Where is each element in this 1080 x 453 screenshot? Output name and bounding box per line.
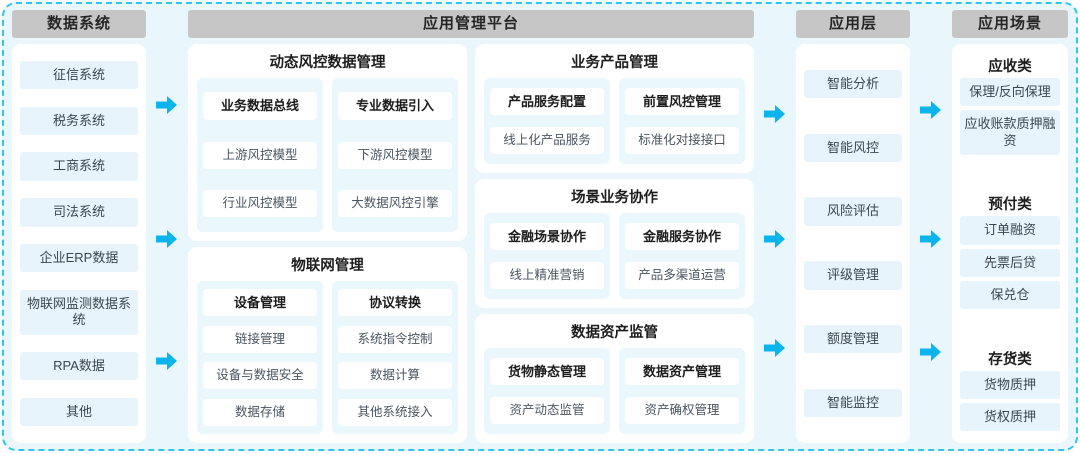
- right-arrow-icon: [763, 337, 787, 359]
- list-item[interactable]: 数据资产管理: [625, 358, 739, 386]
- list-item[interactable]: 货物质押: [960, 371, 1060, 399]
- category-title: 预付类: [960, 190, 1060, 216]
- group-subcolumns: 设备管理 链接管理 设备与数据安全 数据存储 协议转换 系统指令控制 数据计算 …: [197, 281, 458, 435]
- group-title: 动态风控数据管理: [197, 51, 458, 72]
- list-item[interactable]: 评级管理: [804, 261, 902, 289]
- list-item[interactable]: 其他: [20, 398, 138, 426]
- list-item[interactable]: 货物静态管理: [490, 358, 604, 386]
- right-arrow-icon: [919, 341, 943, 363]
- list-item[interactable]: 系统指令控制: [338, 326, 452, 353]
- subcolumn-right: 专业数据引入 下游风控模型 大数据风控引擎: [332, 78, 458, 232]
- group-title: 数据资产监管: [484, 321, 745, 342]
- list-item[interactable]: 其他系统接入: [338, 399, 452, 426]
- list-item[interactable]: 工商系统: [20, 152, 138, 180]
- data-system-card: 征信系统 税务系统 工商系统 司法系统 企业ERP数据 物联网监测数据系统 RP…: [12, 44, 146, 443]
- group-title: 场景业务协作: [484, 186, 745, 207]
- group-subcolumns: 产品服务配置 线上化产品服务 前置风控管理 标准化对接接口: [484, 78, 745, 164]
- right-arrow-icon: [763, 103, 787, 125]
- column-platform: 应用管理平台 动态风控数据管理 业务数据总线 上游风控模型 行业风控模型: [184, 10, 758, 443]
- right-arrow-icon: [763, 228, 787, 250]
- scenario-category: 预付类 订单融资 先票后贷 保兑仓: [960, 190, 1060, 313]
- application-layer-card: 智能分析 智能风控 风险评估 评级管理 额度管理 智能监控: [796, 44, 910, 443]
- list-item[interactable]: 企业ERP数据: [20, 244, 138, 272]
- subcolumn-left: 金融场景协作 线上精准营销: [484, 213, 610, 299]
- list-item[interactable]: 征信系统: [20, 61, 138, 89]
- list-item[interactable]: 应收账款质押融资: [960, 110, 1060, 155]
- column-data-system: 数据系统 征信系统 税务系统 工商系统 司法系统 企业ERP数据 物联网监测数据…: [8, 10, 150, 443]
- architecture-diagram: 数据系统 征信系统 税务系统 工商系统 司法系统 企业ERP数据 物联网监测数据…: [0, 0, 1080, 453]
- platform-header: 应用管理平台: [188, 10, 754, 38]
- scenario-category: 应收类 保理/反向保理 应收账款质押融资: [960, 52, 1060, 159]
- subcolumn-right: 数据资产管理 资产确权管理: [619, 348, 745, 434]
- list-item[interactable]: 标准化对接接口: [625, 127, 739, 154]
- right-arrow-icon: [919, 228, 943, 250]
- application-layer-list: 智能分析 智能风控 风险评估 评级管理 额度管理 智能监控: [804, 52, 902, 435]
- list-item[interactable]: 金融服务协作: [625, 223, 739, 251]
- scenario-category: 存货类 货物质押 货权质押: [960, 345, 1060, 436]
- application-layer-header: 应用层: [796, 10, 910, 38]
- column-application-layer: 应用层 智能分析 智能风控 风险评估 评级管理 额度管理 智能监控: [792, 10, 914, 443]
- group-subcolumns: 金融场景协作 线上精准营销 金融服务协作 产品多渠道运营: [484, 213, 745, 299]
- list-item[interactable]: 司法系统: [20, 198, 138, 226]
- group-card: 数据资产监管 货物静态管理 资产动态监管 数据资产管理 资产确权管理: [475, 314, 754, 443]
- list-item[interactable]: 产品服务配置: [490, 88, 604, 116]
- right-arrow-icon: [155, 350, 179, 372]
- platform-body: 动态风控数据管理 业务数据总线 上游风控模型 行业风控模型 专业数据引入 下游风…: [184, 38, 758, 443]
- group-title: 业务产品管理: [484, 51, 745, 72]
- connector-group-layer-to-scenarios: [914, 10, 948, 443]
- data-system-list: 征信系统 税务系统 工商系统 司法系统 企业ERP数据 物联网监测数据系统 RP…: [20, 52, 138, 435]
- list-item[interactable]: 业务数据总线: [203, 92, 317, 120]
- list-item[interactable]: 物联网监测数据系统: [20, 290, 138, 335]
- right-arrow-icon: [155, 228, 179, 250]
- connector-group-data-to-platform: [150, 10, 184, 443]
- group-card: 动态风控数据管理 业务数据总线 上游风控模型 行业风控模型 专业数据引入 下游风…: [188, 44, 467, 241]
- list-item[interactable]: 资产确权管理: [625, 397, 739, 424]
- list-item[interactable]: 行业风控模型: [203, 190, 317, 217]
- list-item[interactable]: 订单融资: [960, 216, 1060, 244]
- right-arrow-icon: [919, 99, 943, 121]
- list-item[interactable]: 设备管理: [203, 289, 317, 317]
- list-item[interactable]: 数据计算: [338, 362, 452, 389]
- list-item[interactable]: 上游风控模型: [203, 142, 317, 169]
- list-item[interactable]: 资产动态监管: [490, 397, 604, 424]
- connector-group-platform-to-layer: [758, 10, 792, 443]
- subcolumn-left: 产品服务配置 线上化产品服务: [484, 78, 610, 164]
- category-title: 应收类: [960, 52, 1060, 78]
- list-item[interactable]: 数据存储: [203, 399, 317, 426]
- subcolumn-left: 货物静态管理 资产动态监管: [484, 348, 610, 434]
- group-subcolumns: 货物静态管理 资产动态监管 数据资产管理 资产确权管理: [484, 348, 745, 434]
- subcolumn-left: 设备管理 链接管理 设备与数据安全 数据存储: [197, 281, 323, 435]
- list-item[interactable]: 智能分析: [804, 70, 902, 98]
- list-item[interactable]: 智能监控: [804, 389, 902, 417]
- list-item[interactable]: RPA数据: [20, 352, 138, 380]
- list-item[interactable]: 金融场景协作: [490, 223, 604, 251]
- list-item[interactable]: 先票后贷: [960, 249, 1060, 277]
- data-system-header: 数据系统: [12, 10, 146, 38]
- group-subcolumns: 业务数据总线 上游风控模型 行业风控模型 专业数据引入 下游风控模型 大数据风控…: [197, 78, 458, 232]
- list-item[interactable]: 税务系统: [20, 107, 138, 135]
- group-card: 物联网管理 设备管理 链接管理 设备与数据安全 数据存储 协议转换 系统指令控制: [188, 247, 467, 444]
- platform-left-stack: 动态风控数据管理 业务数据总线 上游风控模型 行业风控模型 专业数据引入 下游风…: [188, 44, 467, 443]
- scenario-groups: 应收类 保理/反向保理 应收账款质押融资 预付类 订单融资 先票后贷 保兑仓 存…: [960, 52, 1060, 435]
- list-item[interactable]: 前置风控管理: [625, 88, 739, 116]
- application-scenarios-header: 应用场景: [952, 10, 1068, 38]
- list-item[interactable]: 线上化产品服务: [490, 127, 604, 154]
- list-item[interactable]: 保理/反向保理: [960, 78, 1060, 106]
- list-item[interactable]: 线上精准营销: [490, 262, 604, 289]
- list-item[interactable]: 额度管理: [804, 325, 902, 353]
- list-item[interactable]: 智能风控: [804, 134, 902, 162]
- application-scenarios-card: 应收类 保理/反向保理 应收账款质押融资 预付类 订单融资 先票后贷 保兑仓 存…: [952, 44, 1068, 443]
- group-card: 场景业务协作 金融场景协作 线上精准营销 金融服务协作 产品多渠道运营: [475, 179, 754, 308]
- list-item[interactable]: 链接管理: [203, 326, 317, 353]
- list-item[interactable]: 产品多渠道运营: [625, 262, 739, 289]
- column-application-scenarios: 应用场景 应收类 保理/反向保理 应收账款质押融资 预付类 订单融资 先票后贷 …: [948, 10, 1072, 443]
- list-item[interactable]: 设备与数据安全: [203, 362, 317, 389]
- category-title: 存货类: [960, 345, 1060, 371]
- group-card: 业务产品管理 产品服务配置 线上化产品服务 前置风控管理 标准化对接接口: [475, 44, 754, 173]
- list-item[interactable]: 下游风控模型: [338, 142, 452, 169]
- list-item[interactable]: 专业数据引入: [338, 92, 452, 120]
- platform-right-stack: 业务产品管理 产品服务配置 线上化产品服务 前置风控管理 标准化对接接口: [475, 44, 754, 443]
- right-arrow-icon: [155, 94, 179, 116]
- subcolumn-left: 业务数据总线 上游风控模型 行业风控模型: [197, 78, 323, 232]
- subcolumn-right: 前置风控管理 标准化对接接口: [619, 78, 745, 164]
- group-title: 物联网管理: [197, 254, 458, 275]
- list-item[interactable]: 保兑仓: [960, 281, 1060, 309]
- list-item[interactable]: 货权质押: [960, 403, 1060, 431]
- subcolumn-right: 金融服务协作 产品多渠道运营: [619, 213, 745, 299]
- list-item[interactable]: 大数据风控引擎: [338, 190, 452, 217]
- list-item[interactable]: 协议转换: [338, 289, 452, 317]
- subcolumn-right: 协议转换 系统指令控制 数据计算 其他系统接入: [332, 281, 458, 435]
- list-item[interactable]: 风险评估: [804, 197, 902, 225]
